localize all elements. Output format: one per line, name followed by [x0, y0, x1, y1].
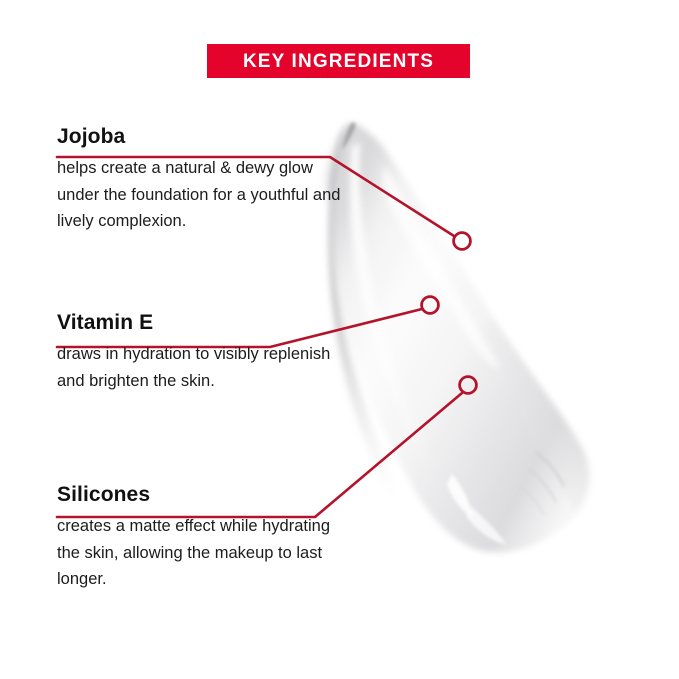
ingredient-description-vitamin-e: draws in hydration to visibly replenish …	[57, 341, 357, 394]
ingredient-block-jojoba: Jojoba helps create a natural & dewy glo…	[57, 126, 357, 235]
ingredient-block-silicones: Silicones creates a matte effect while h…	[57, 484, 357, 593]
ingredient-title-silicones: Silicones	[57, 484, 357, 506]
ingredient-description-silicones: creates a matte effect while hydrating t…	[57, 513, 357, 593]
marker-circle-silicones	[460, 377, 477, 394]
marker-circle-jojoba	[454, 233, 471, 250]
ingredient-title-vitamin-e: Vitamin E	[57, 312, 357, 334]
key-ingredients-infographic: KEY INGREDIENTS Jojoba helps create a na…	[0, 0, 679, 679]
key-ingredients-banner: KEY INGREDIENTS	[207, 44, 470, 78]
marker-circle-vitamin-e	[422, 297, 439, 314]
ingredient-title-jojoba: Jojoba	[57, 126, 357, 148]
banner-label: KEY INGREDIENTS	[243, 52, 434, 71]
ingredient-block-vitamin-e: Vitamin E draws in hydration to visibly …	[57, 312, 357, 394]
ingredient-description-jojoba: helps create a natural & dewy glow under…	[57, 155, 357, 235]
